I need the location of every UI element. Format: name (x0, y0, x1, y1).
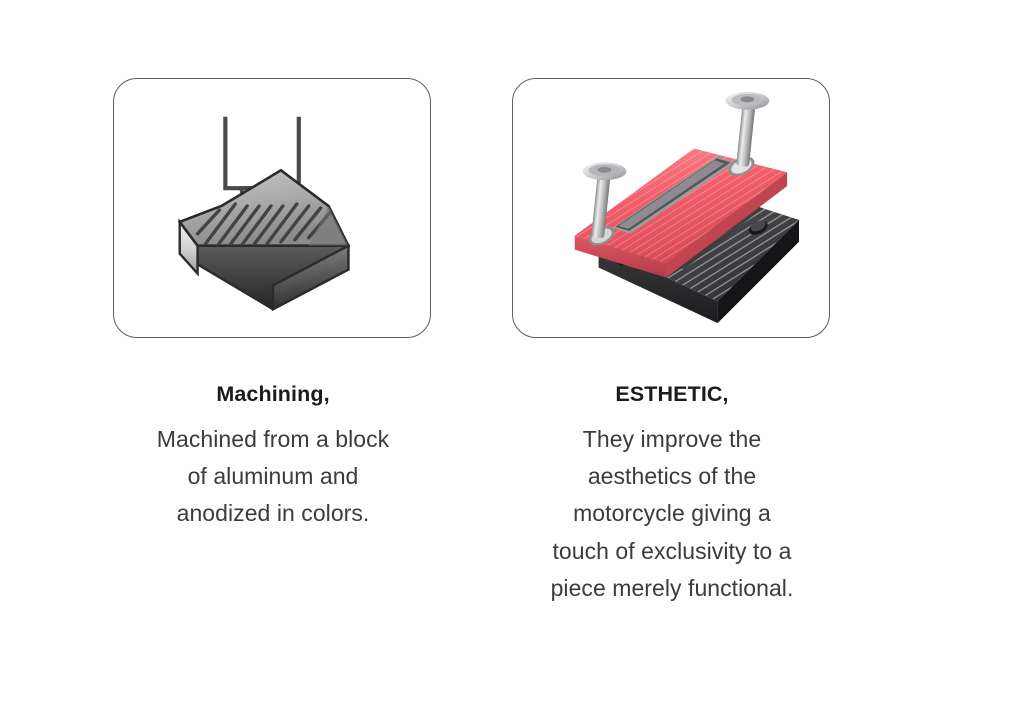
screw-right-shape (726, 92, 770, 167)
body-line: touch of exclusivity to a (512, 533, 832, 570)
card-heading-machining: Machining, (113, 338, 433, 408)
body-line: anodized in colors. (113, 495, 433, 532)
card-heading-esthetic: ESTHETIC, (512, 338, 832, 408)
machining-icon-box (113, 78, 431, 338)
esthetic-icon-box (512, 78, 830, 338)
feature-card-machining: Machining, Machined from a block of alum… (113, 78, 433, 533)
card-body-esthetic: They improve the aesthetics of the motor… (512, 408, 832, 607)
body-line: of aluminum and (113, 458, 433, 495)
body-line: aesthetics of the (512, 458, 832, 495)
card-body-machining: Machined from a block of aluminum and an… (113, 408, 433, 533)
cnc-machining-illustration (114, 79, 430, 337)
body-line: Machined from a block (113, 421, 433, 458)
body-line: motorcycle giving a (512, 495, 832, 532)
body-line: piece merely functional. (512, 570, 832, 607)
page-root: Machining, Machined from a block of alum… (0, 0, 1024, 708)
anodized-plate-product-photo (513, 79, 829, 337)
feature-card-esthetic: ESTHETIC, They improve the aesthetics of… (512, 78, 832, 607)
body-line: They improve the (512, 421, 832, 458)
